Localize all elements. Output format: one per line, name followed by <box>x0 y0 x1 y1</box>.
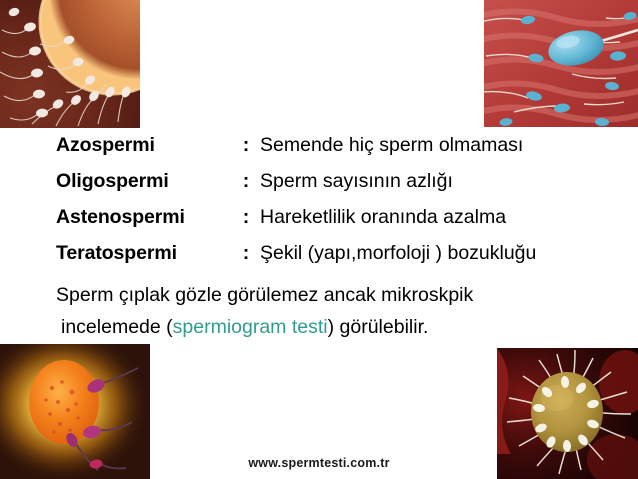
definition-row-oligospermi: Oligospermi : Sperm sayısının azlığı <box>56 170 626 206</box>
term-description-azospermi: Semende hiç sperm olmaması <box>254 134 523 157</box>
term-label-oligospermi: Oligospermi <box>56 170 238 193</box>
terminology-definition-list: Azospermi : Semende hiç sperm olmaması O… <box>56 134 626 278</box>
definition-row-astenospermi: Astenospermi : Hareketlilik oranında aza… <box>56 206 626 242</box>
highlighted-term-spermiogram-testi: spermiogram testi <box>173 316 328 338</box>
watermark-url: www.spermtesti.com.tr <box>0 456 638 470</box>
term-description-oligospermi: Sperm sayısının azlığı <box>254 170 453 193</box>
term-label-teratospermi: Teratospermi <box>56 242 238 265</box>
separator-colon: : <box>238 170 254 193</box>
term-label-azospermi: Azospermi <box>56 134 238 157</box>
paragraph-text-before-highlight: incelemede ( <box>61 316 173 338</box>
sperm-swarm-toward-ovum-illustration <box>0 0 140 128</box>
definition-row-azospermi: Azospermi : Semende hiç sperm olmaması <box>56 134 626 170</box>
paragraph-line-1: Sperm çıplak gözle görülemez ancak mikro… <box>56 284 636 316</box>
definition-row-teratospermi: Teratospermi : Şekil (yapı,morfoloji ) b… <box>56 242 626 278</box>
blue-sperm-on-red-tissue-illustration <box>484 0 638 127</box>
term-description-teratospermi: Şekil (yapı,morfoloji ) bozukluğu <box>254 242 536 265</box>
separator-colon: : <box>238 206 254 229</box>
separator-colon: : <box>238 134 254 157</box>
explanatory-paragraph: Sperm çıplak gözle görülemez ancak mikro… <box>56 284 636 348</box>
separator-colon: : <box>238 242 254 265</box>
term-description-astenospermi: Hareketlilik oranında azalma <box>254 206 506 229</box>
term-label-astenospermi: Astenospermi <box>56 206 238 229</box>
paragraph-text-after-highlight: ) görülebilir. <box>328 316 429 338</box>
paragraph-line-2: incelemede (spermiogram testi) görülebil… <box>56 316 636 348</box>
slide-canvas: Azospermi : Semende hiç sperm olmaması O… <box>0 0 638 479</box>
